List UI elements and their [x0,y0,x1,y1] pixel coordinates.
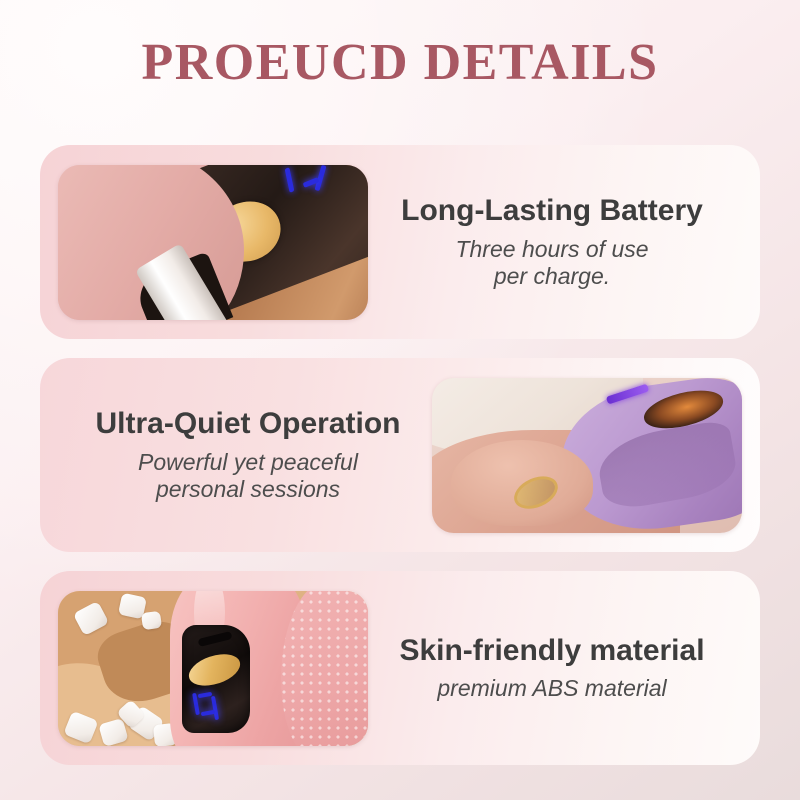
page-header: PROEUCD DETAILS [0,34,800,91]
feature-card-list: Long-Lasting Battery Three hours of use … [40,145,760,765]
feature-card-skin-friendly-material[interactable]: Skin-friendly material premium ABS mater… [40,571,760,765]
feature-card-ultra-quiet-operation[interactable]: Ultra-Quiet Operation Powerful yet peace… [40,358,760,552]
page-title: PROEUCD DETAILS [0,34,800,91]
product-details-page: PROEUCD DETAILS Long-Last [0,0,800,800]
feature-card-text: Skin-friendly material premium ABS mater… [368,634,736,703]
feature-heading: Skin-friendly material [382,634,722,669]
feature-subtitle: Three hours of use per charge. [382,236,722,290]
device-charging-closeup-photo [58,165,368,320]
feature-card-long-lasting-battery[interactable]: Long-Lasting Battery Three hours of use … [40,145,760,339]
feature-subtitle: Powerful yet peaceful personal sessions [78,449,418,503]
feature-card-text: Ultra-Quiet Operation Powerful yet peace… [64,407,432,503]
pink-device-material-photo [58,591,368,746]
feature-heading: Long-Lasting Battery [382,194,722,229]
feature-subtitle: premium ABS material [382,675,722,702]
feature-card-text: Long-Lasting Battery Three hours of use … [368,194,736,290]
feature-heading: Ultra-Quiet Operation [78,407,418,442]
hand-holding-purple-device-photo [432,378,742,533]
